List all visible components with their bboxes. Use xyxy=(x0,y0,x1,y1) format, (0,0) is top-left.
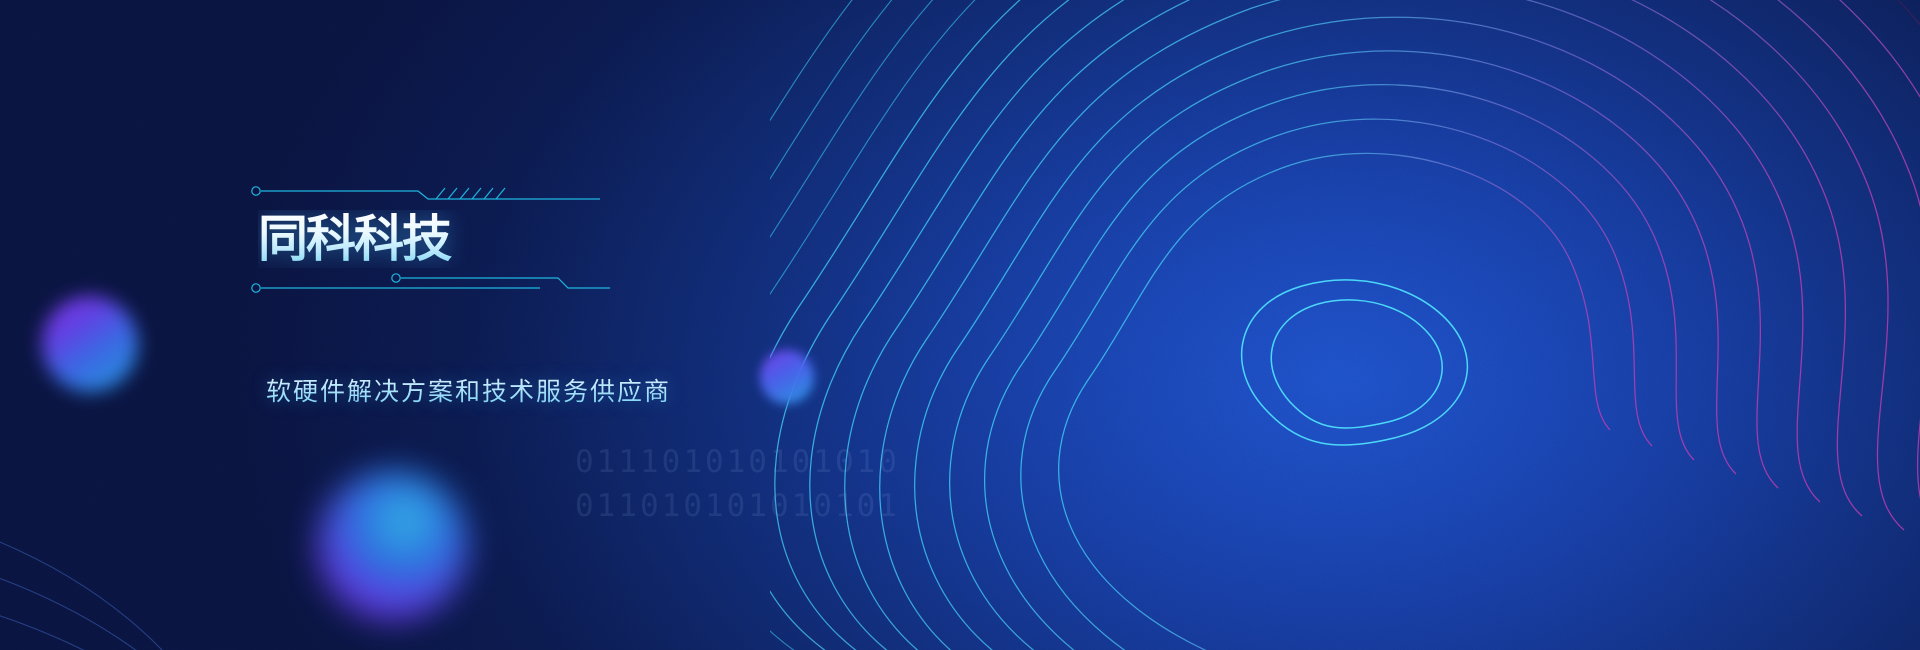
grain-texture xyxy=(0,0,1920,650)
hero-banner: 011101010101010 011010101010101 xyxy=(0,0,1920,650)
brand-logo-block: 同科科技 xyxy=(250,180,610,294)
brand-name-text: 同科科技 xyxy=(258,210,452,268)
glow-orb-center xyxy=(760,350,814,404)
glow-orb-left xyxy=(42,296,138,392)
binary-line-2: 011010101010101 xyxy=(575,488,900,524)
circuit-line-bottom-icon xyxy=(250,272,610,294)
glow-orb-bottom xyxy=(318,470,468,620)
brand-tagline: 软硬件解决方案和技术服务供应商 xyxy=(266,372,671,408)
binary-watermark: 011101010101010 011010101010101 xyxy=(575,440,900,528)
circuit-line-top-icon xyxy=(250,180,610,204)
contour-lines-right xyxy=(770,0,1920,650)
brand-wordmark: 同科科技 xyxy=(258,210,610,268)
binary-line-1: 011101010101010 xyxy=(575,444,900,480)
